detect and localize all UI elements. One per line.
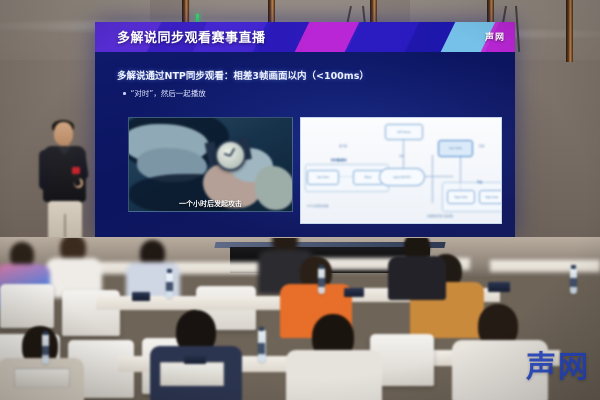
microphone-flag-logo bbox=[72, 167, 80, 174]
wooden-pillar bbox=[566, 0, 573, 62]
diagram-label-bottom: 多路解说同步分发链路 bbox=[427, 214, 453, 218]
laptop bbox=[184, 354, 206, 364]
notepad bbox=[160, 362, 224, 386]
slide-bullet-item: “对时”，然后一起播放 bbox=[123, 88, 206, 99]
diagram-box-client-a: App Client bbox=[307, 170, 339, 185]
diagram-label-region: 区域 bbox=[479, 144, 484, 148]
video-caption: 一个小时后发起攻击 bbox=[129, 199, 292, 209]
slide-title: 多解说同步观看赛事直播 bbox=[117, 27, 266, 46]
slide-architecture-diagram: NTP Server App Client Player Sync Node E… bbox=[300, 117, 502, 224]
diagram-box-edge-b: Edge Node bbox=[479, 190, 502, 204]
agora-brand-logo: 声网 bbox=[485, 30, 505, 43]
presenter-left-arm bbox=[39, 150, 50, 190]
bullet-dot-icon bbox=[123, 92, 126, 95]
slide-headline: 多解说通过NTP同步观看：相差3帧画面以内（<100ms） bbox=[117, 68, 369, 82]
presentation-screen: 多解说同步观看赛事直播 声网 多解说通过NTP同步观看：相差3帧画面以内（<10… bbox=[95, 22, 515, 237]
water-bottle bbox=[42, 334, 49, 364]
wristwatch-dial bbox=[215, 140, 246, 171]
diagram-box-ntp-server: NTP Server bbox=[385, 124, 423, 140]
agora-watermark: 声网 bbox=[526, 342, 590, 386]
diagram-label-sync: 对时 bbox=[399, 154, 404, 158]
slide-video-still: 一个小时后发起攻击 bbox=[128, 117, 293, 212]
conference-photo-scene: 多解说同步观看赛事直播 声网 多解说通过NTP同步观看：相差3帧画面以内（<10… bbox=[0, 0, 600, 400]
notepad bbox=[14, 368, 70, 388]
slide-title-banner: 多解说同步观看赛事直播 声网 bbox=[95, 22, 515, 52]
diagram-label-group-title: 同步播放模块 bbox=[331, 158, 347, 162]
diagram-cloud-media-network: Agora SD-RTN bbox=[379, 168, 425, 186]
diagram-box-edge-a: Edge Node bbox=[447, 190, 475, 204]
water-bottle bbox=[258, 330, 266, 362]
diagram-label-clients: 客户端 bbox=[339, 144, 347, 148]
audience-area bbox=[0, 238, 600, 400]
presenter bbox=[36, 122, 98, 247]
diagram-label-edge: 节点 bbox=[477, 180, 482, 184]
diagram-box-sync-node: Sync Node bbox=[438, 140, 473, 157]
slide-bullet-text: “对时”，然后一起播放 bbox=[131, 88, 206, 99]
diagram-label-footnote: NTP 时间同步链路 bbox=[307, 204, 328, 208]
